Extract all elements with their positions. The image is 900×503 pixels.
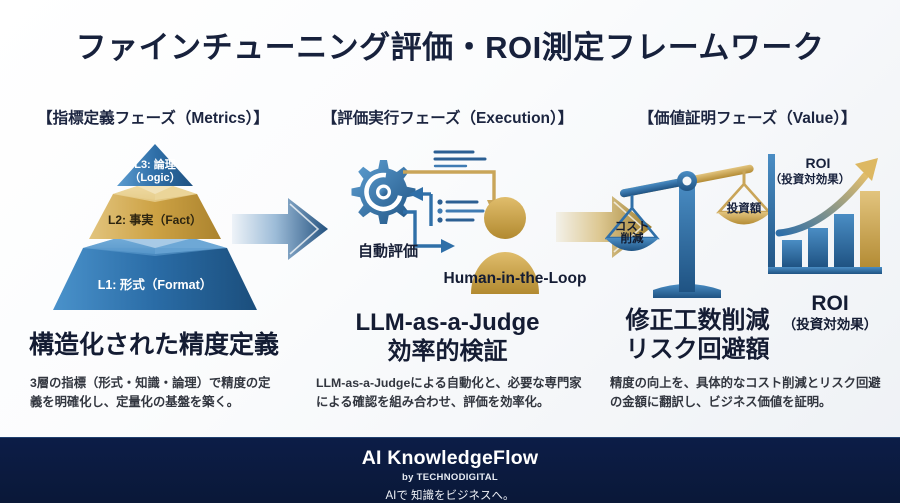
- column-title-execution: LLM-as-a-Judge 効率的検証: [305, 308, 590, 367]
- pyramid-level-l2-label: L2: 事実（Fact）: [108, 212, 202, 227]
- scale-left-label-line1: コスト: [615, 220, 650, 233]
- footer-brand: AI KnowledgeFlow: [0, 447, 900, 470]
- document-lines-icon: [435, 152, 485, 166]
- chart-bar-4: [860, 191, 880, 267]
- checklist-icon: [437, 199, 483, 222]
- infographic-canvas: ファインチューニング評価・ROI測定フレームワーク 【指標定義フェーズ（Metr…: [0, 0, 900, 502]
- gear-label-automatic-evaluation: 自動評価: [333, 240, 443, 261]
- column-body-execution: LLM-as-a-Judgeによる自動化と、必要な専門家による確認を組み合わせ、…: [316, 374, 582, 411]
- page-title: ファインチューニング評価・ROI測定フレームワーク: [0, 22, 900, 67]
- roi-bar-chart-graphic: ROI （投資対効果）: [762, 148, 890, 293]
- chart-bar-1: [782, 240, 802, 267]
- phase-header-metrics: 【指標定義フェーズ（Metrics）】: [18, 106, 288, 128]
- chart-bar-3: [834, 214, 854, 267]
- scale-right-label: 投資額: [727, 201, 762, 215]
- footer-tagline: AIで 知識をビジネスへ。: [0, 487, 900, 503]
- column-body-metrics: 3層の指標（形式・知識・論理）で精度の定義を明確化し、定量化の基盤を築く。: [30, 374, 280, 411]
- flow-arrow-metrics-to-execution: [232, 196, 328, 262]
- column-title-value-line2: リスク回避額: [626, 336, 770, 363]
- gear-icon: [352, 160, 416, 224]
- column-title-execution-line1: LLM-as-a-Judge: [355, 309, 539, 336]
- phase-header-execution: 【評価実行フェーズ（Execution）】: [305, 106, 590, 128]
- chart-overlay-roi-sub: （投資対効果）: [770, 172, 851, 186]
- scale-pan-cost-reduction: コスト 削減: [605, 195, 659, 251]
- roi-caption-sub: （投資対効果）: [770, 317, 890, 333]
- column-title-metrics: 構造化された精度定義: [18, 330, 290, 361]
- footer-bar: AI KnowledgeFlow by TECHNODIGITAL AIで 知識…: [0, 437, 900, 503]
- chart-bar-2: [808, 228, 828, 267]
- pyramid-level-l3-line2: （Logic）: [129, 171, 180, 184]
- pyramid-level-l1-label: L1: 形式（Format）: [98, 277, 213, 292]
- pyramid-level-l3-line1: L3: 論理: [134, 157, 176, 171]
- column-title-value: 修正工数削減 リスク回避額: [600, 306, 795, 365]
- balance-scale-graphic: コスト 削減 投資額: [605, 150, 770, 305]
- footer-byline: by TECHNODIGITAL: [0, 472, 900, 483]
- scale-left-label-line2: 削減: [621, 231, 644, 245]
- roi-caption-main: ROI: [770, 292, 890, 317]
- column-title-value-line1: 修正工数削減: [626, 307, 770, 334]
- human-in-the-loop-label: Human-in-the-Loop: [420, 270, 610, 288]
- phase-header-value: 【価値証明フェーズ（Value）】: [605, 106, 890, 128]
- chart-overlay-roi: ROI: [806, 155, 831, 171]
- column-body-value: 精度の向上を、具体的なコスト削減とリスク回避の金額に翻訳し、ビジネス価値を証明。: [610, 374, 882, 411]
- column-title-execution-line2: 効率的検証: [388, 338, 508, 365]
- roi-caption: ROI （投資対効果）: [770, 292, 890, 333]
